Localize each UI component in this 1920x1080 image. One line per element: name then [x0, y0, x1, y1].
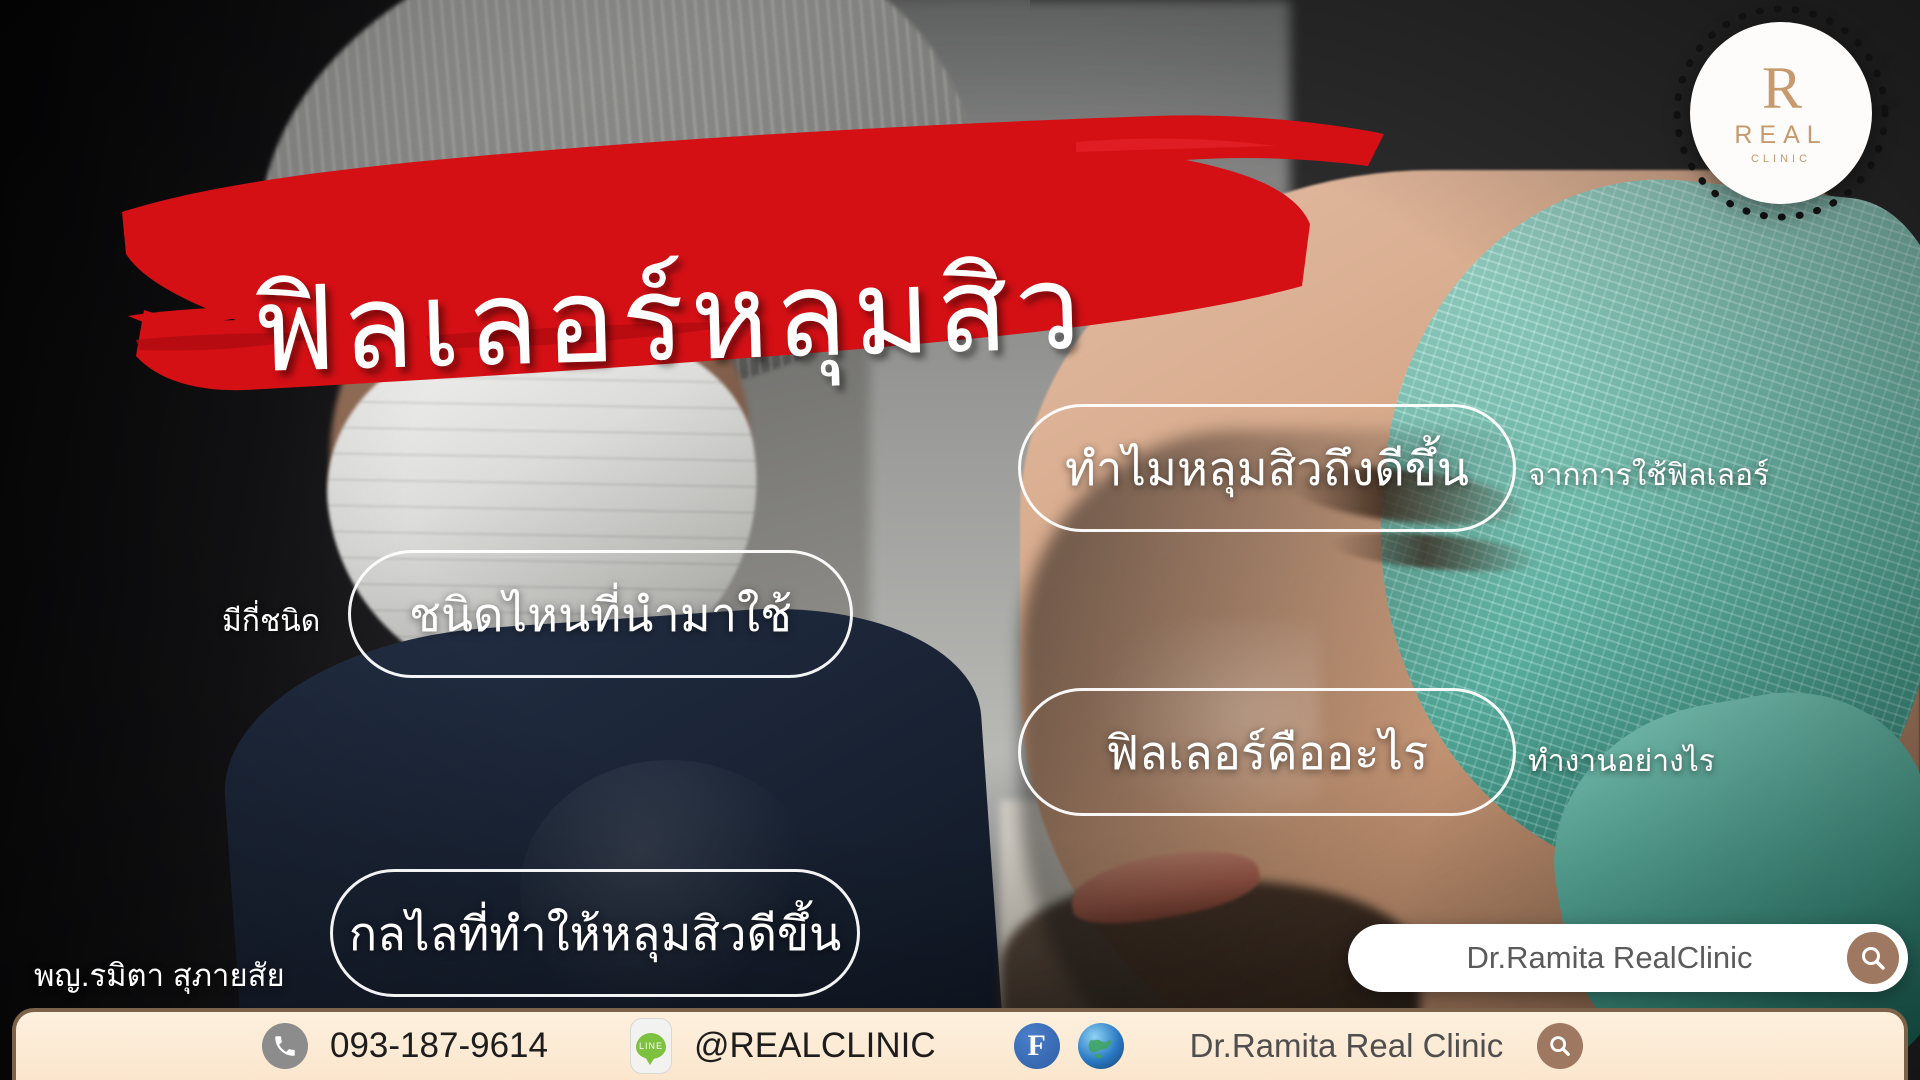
- search-icon[interactable]: [1847, 932, 1899, 984]
- question-note-1: จากการใช้ฟิลเลอร์: [1528, 452, 1769, 499]
- footer-line-group[interactable]: LINE @REALCLINIC: [630, 1018, 936, 1074]
- clinic-logo[interactable]: R REAL CLINIC: [1690, 22, 1872, 204]
- globe-icon[interactable]: [1078, 1023, 1124, 1069]
- question-pill-1[interactable]: ทำไมหลุมสิวถึงดีขึ้น: [1018, 404, 1516, 532]
- logo-subtitle: CLINIC: [1751, 153, 1811, 165]
- line-bubble-glyph: LINE: [636, 1033, 666, 1059]
- logo-monogram-icon: R: [1762, 61, 1800, 115]
- phone-icon: [262, 1023, 308, 1069]
- question-pill-4[interactable]: กลไลที่ทำให้หลุมสิวดีขึ้น: [330, 869, 860, 997]
- footer-social-group[interactable]: F Dr.Ramita Real Clinic: [1014, 1023, 1584, 1069]
- facebook-icon[interactable]: F: [1014, 1023, 1060, 1069]
- question-pill-2-label: ชนิดไหนที่นำมาใช้: [409, 577, 792, 652]
- phone-number: 093-187-9614: [330, 1026, 548, 1066]
- question-pill-2[interactable]: ชนิดไหนที่นำมาใช้: [348, 550, 853, 678]
- question-pill-3-label: ฟิลเลอร์คืออะไร: [1106, 715, 1428, 790]
- search-bar[interactable]: Dr.Ramita RealClinic: [1348, 924, 1908, 992]
- question-note-2: มีกี่ชนิด: [222, 598, 320, 645]
- facebook-page-name: Dr.Ramita Real Clinic: [1190, 1027, 1504, 1065]
- search-icon[interactable]: [1537, 1023, 1583, 1069]
- doctor-name: พญ.รมิตา สุภายสัย: [34, 950, 285, 1000]
- question-pill-1-label: ทำไมหลุมสิวถึงดีขึ้น: [1065, 431, 1469, 506]
- contact-footer: 093-187-9614 LINE @REALCLINIC F Dr.Ramit…: [12, 1008, 1908, 1080]
- logo-name: REAL: [1734, 121, 1827, 150]
- poster-canvas: ฟิลเลอร์หลุมสิว R REAL CLINIC ทำไมหลุมสิ…: [0, 0, 1920, 1080]
- question-pill-4-label: กลไลที่ทำให้หลุมสิวดีขึ้น: [349, 896, 842, 971]
- search-input[interactable]: Dr.Ramita RealClinic: [1348, 940, 1847, 976]
- line-icon: LINE: [630, 1018, 672, 1074]
- footer-phone-group[interactable]: 093-187-9614: [262, 1023, 548, 1069]
- question-note-3: ทำงานอย่างไร: [1528, 738, 1715, 785]
- headline-banner: ฟิลเลอร์หลุมสิว: [96, 104, 1396, 394]
- question-pill-3[interactable]: ฟิลเลอร์คืออะไร: [1018, 688, 1516, 816]
- line-id: @REALCLINIC: [694, 1026, 936, 1066]
